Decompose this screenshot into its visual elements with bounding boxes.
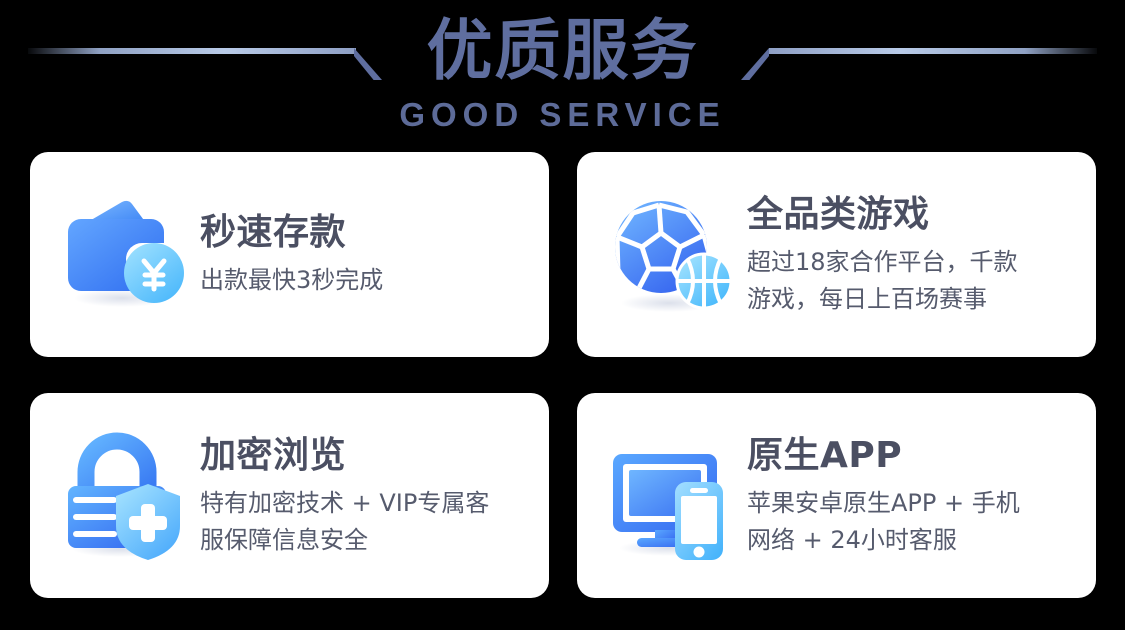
card-text-native-app: 原生APP 苹果安卓原生APP + 手机 网络 + 24小时客服	[743, 433, 1078, 559]
card-text-games: 全品类游戏 超过18家合作平台，千款 游戏，每日上百场赛事	[743, 192, 1078, 318]
card-text-deposit: 秒速存款 出款最快3秒完成	[196, 210, 531, 299]
card-text-encryption: 加密浏览 特有加密技术 + VIP专属客 服保障信息安全	[196, 433, 531, 559]
wallet-yen-icon	[56, 185, 196, 325]
card-title: 秒速存款	[200, 210, 531, 256]
lock-shield-icon	[56, 426, 196, 566]
card-description-line: 超过18家合作平台，千款	[747, 244, 1078, 281]
card-description-line: 苹果安卓原生APP + 手机	[747, 485, 1078, 522]
card-description-line: 服保障信息安全	[200, 522, 531, 559]
service-card-native-app[interactable]: 原生APP 苹果安卓原生APP + 手机 网络 + 24小时客服	[577, 393, 1096, 598]
soccer-basketball-icon	[603, 185, 743, 325]
page-title: 优质服务	[0, 8, 1125, 94]
monitor-phone-icon	[603, 426, 743, 566]
page-root: 优质服务 GOOD SERVICE	[0, 0, 1125, 630]
card-title: 原生APP	[747, 433, 1078, 479]
card-description: 出款最快3秒完成	[200, 262, 531, 299]
card-description: 超过18家合作平台，千款 游戏，每日上百场赛事	[747, 244, 1078, 318]
card-description-line: 网络 + 24小时客服	[747, 522, 1078, 559]
card-title: 加密浏览	[200, 433, 531, 479]
card-description: 苹果安卓原生APP + 手机 网络 + 24小时客服	[747, 485, 1078, 559]
card-description-line: 出款最快3秒完成	[200, 262, 531, 299]
card-description: 特有加密技术 + VIP专属客 服保障信息安全	[200, 485, 531, 559]
card-description-line: 特有加密技术 + VIP专属客	[200, 485, 531, 522]
page-header: 优质服务 GOOD SERVICE	[0, 0, 1125, 150]
page-subtitle: GOOD SERVICE	[0, 96, 1125, 134]
service-card-grid: 秒速存款 出款最快3秒完成	[30, 152, 1096, 598]
card-description-line: 游戏，每日上百场赛事	[747, 281, 1078, 318]
card-title: 全品类游戏	[747, 192, 1078, 238]
service-card-encryption[interactable]: 加密浏览 特有加密技术 + VIP专属客 服保障信息安全	[30, 393, 549, 598]
service-card-deposit[interactable]: 秒速存款 出款最快3秒完成	[30, 152, 549, 357]
service-card-games[interactable]: 全品类游戏 超过18家合作平台，千款 游戏，每日上百场赛事	[577, 152, 1096, 357]
